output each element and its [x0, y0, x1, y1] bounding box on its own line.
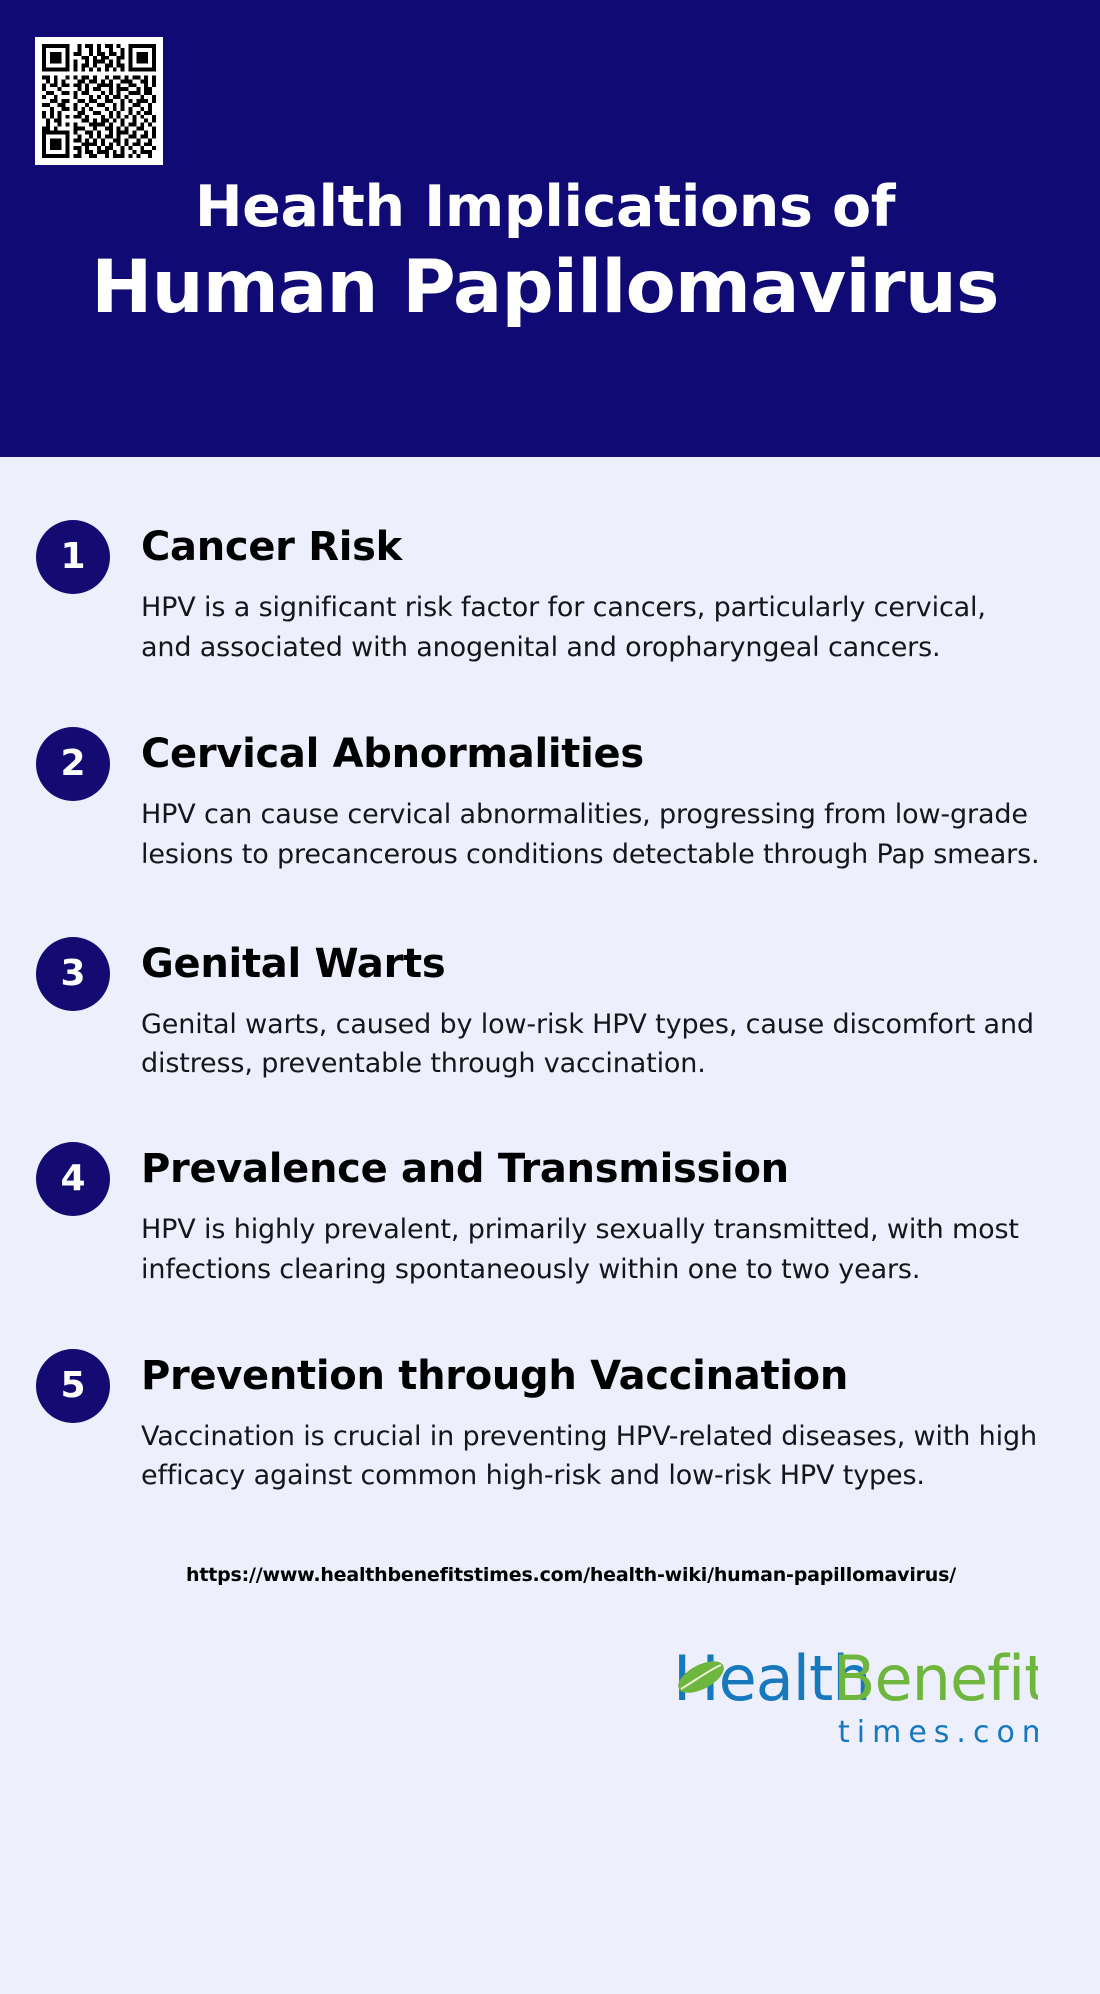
item-description: Genital warts, caused by low-risk HPV ty…	[141, 1005, 1060, 1084]
item-title: Prevalence and Transmission	[141, 1147, 1060, 1191]
item-number-badge: 5	[36, 1349, 110, 1423]
item-body: Cervical Abnormalities HPV can cause cer…	[141, 727, 1060, 874]
list-item: 2 Cervical Abnormalities HPV can cause c…	[0, 727, 1100, 874]
item-description: HPV can cause cervical abnormalities, pr…	[141, 795, 1041, 874]
item-title: Genital Warts	[141, 942, 1060, 986]
qr-code-icon[interactable]	[35, 37, 163, 165]
item-number-badge: 2	[36, 727, 110, 801]
item-title: Cervical Abnormalities	[141, 732, 1060, 776]
list-item: 3 Genital Warts Genital warts, caused by…	[0, 937, 1100, 1084]
item-description: HPV is a significant risk factor for can…	[141, 588, 1041, 667]
item-body: Prevention through Vaccination Vaccinati…	[141, 1349, 1060, 1496]
item-title: Cancer Risk	[141, 525, 1060, 569]
item-number-badge: 3	[36, 937, 110, 1011]
healthbenefitstimes-logo: Health Benefits times.com	[673, 1642, 1038, 1750]
item-title: Prevention through Vaccination	[141, 1354, 1060, 1398]
item-body: Genital Warts Genital warts, caused by l…	[141, 937, 1060, 1084]
items-list: 1 Cancer Risk HPV is a significant risk …	[0, 520, 1100, 1750]
title-line-2: Human Papillomavirus	[0, 246, 1090, 329]
svg-text:Benefits: Benefits	[833, 1642, 1038, 1715]
brand-logo[interactable]: Health Benefits times.com	[0, 1642, 1100, 1750]
logo-svg: Health Benefits times.com	[673, 1642, 1038, 1750]
item-body: Prevalence and Transmission HPV is highl…	[141, 1142, 1060, 1289]
qr-code-svg	[42, 44, 156, 158]
infographic-header: Health Implications of Human Papillomavi…	[0, 0, 1100, 457]
item-description: HPV is highly prevalent, primarily sexua…	[141, 1210, 1060, 1289]
item-number-badge: 4	[36, 1142, 110, 1216]
title-line-1: Health Implications of	[0, 176, 1090, 240]
list-item: 5 Prevention through Vaccination Vaccina…	[0, 1349, 1100, 1496]
item-number-badge: 1	[36, 520, 110, 594]
page-title: Health Implications of Human Papillomavi…	[0, 176, 1090, 329]
item-body: Cancer Risk HPV is a significant risk fa…	[141, 520, 1060, 667]
item-description: Vaccination is crucial in preventing HPV…	[141, 1417, 1041, 1496]
list-item: 1 Cancer Risk HPV is a significant risk …	[0, 520, 1100, 667]
source-url-link[interactable]: https://www.healthbenefitstimes.com/heal…	[0, 1564, 1100, 1586]
list-item: 4 Prevalence and Transmission HPV is hig…	[0, 1142, 1100, 1289]
svg-text:times.com: times.com	[838, 1715, 1038, 1750]
